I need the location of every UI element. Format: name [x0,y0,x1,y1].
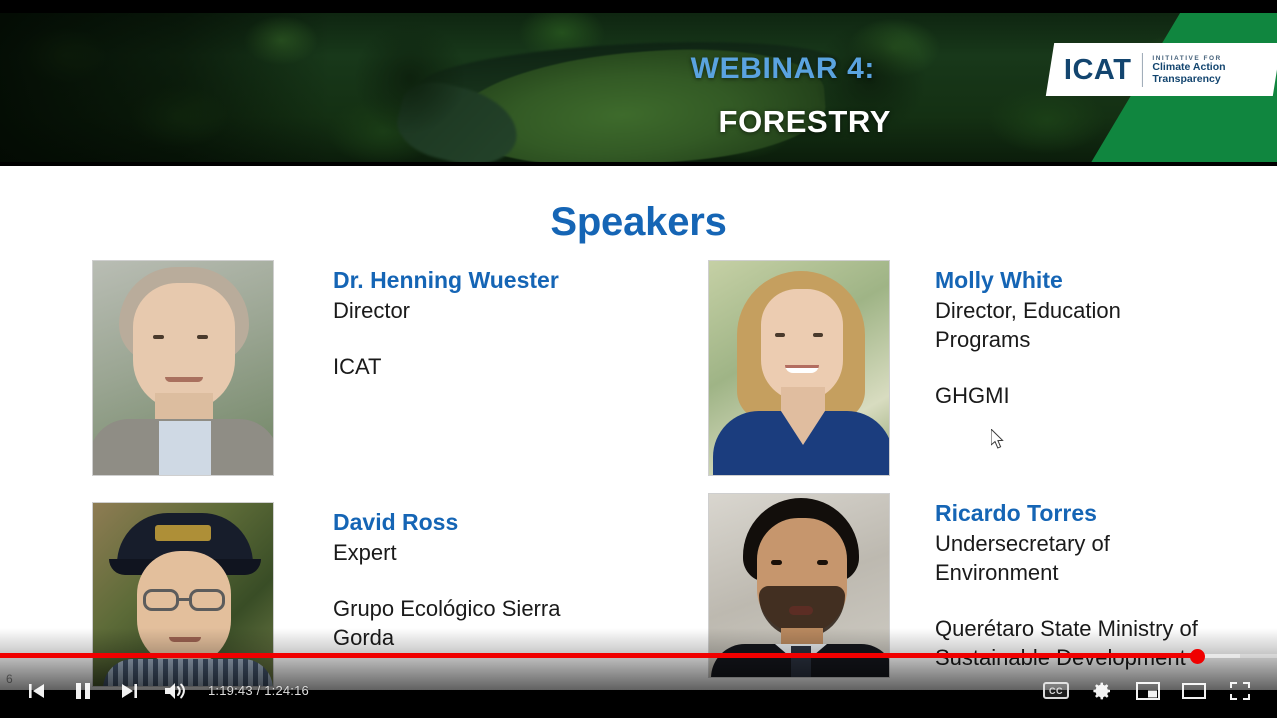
pause-button[interactable] [60,667,106,715]
player-controls: 1:19:43 / 1:24:16 CC [0,663,1277,718]
fullscreen-button[interactable] [1217,667,1263,715]
slide-body: Speakers Dr. Henning Wuester Director [0,166,1277,690]
speaker-card-henning-wuester: Dr. Henning Wuester Director ICAT [92,260,559,476]
speaker-organization: ICAT [333,352,559,381]
next-icon [118,681,140,701]
captions-icon: CC [1043,682,1069,699]
speaker-card-molly-white: Molly White Director, Education Programs… [708,260,1185,476]
settings-button[interactable] [1079,667,1125,715]
page-title: Speakers [0,200,1277,245]
miniplayer-icon [1135,680,1161,702]
banner-letterbox-bottom [0,162,1277,166]
speaker-organization: GHGMI [935,381,1185,410]
speaker-role: Undersecretary of Environment [935,529,1225,587]
progress-scrubber-handle[interactable] [1190,649,1205,664]
gear-icon [1090,679,1114,703]
theater-mode-button[interactable] [1171,667,1217,715]
logo-divider [1142,53,1143,87]
captions-button[interactable]: CC [1033,667,1079,715]
video-player[interactable]: WEBINAR 4: FORESTRY ICAT INITIATIVE FOR … [0,0,1277,718]
speaker-role: Expert [333,538,583,567]
progress-bar[interactable] [0,649,1277,663]
icat-tagline-line2: Climate Action [1153,61,1226,73]
webinar-number-label: WEBINAR 4: [0,52,1055,86]
speaker-name: Ricardo Torres [935,501,1225,527]
speaker-organization: Grupo Ecológico Sierra Gorda [333,594,583,652]
previous-button[interactable] [14,667,60,715]
speaker-name: Dr. Henning Wuester [333,268,559,294]
speaker-name: Molly White [935,268,1185,294]
icat-tagline-line3: Transparency [1153,73,1226,85]
volume-button[interactable] [152,667,198,715]
speaker-photo-molly-white [708,260,890,476]
presentation-slide: WEBINAR 4: FORESTRY ICAT INITIATIVE FOR … [0,0,1277,690]
slide-banner: WEBINAR 4: FORESTRY ICAT INITIATIVE FOR … [0,0,1277,166]
next-button[interactable] [106,667,152,715]
speaker-role: Director, Education Programs [935,296,1185,354]
pause-icon [73,680,93,702]
volume-icon [163,680,187,702]
speaker-role: Director [333,296,559,325]
banner-letterbox-top [0,0,1277,13]
fullscreen-icon [1228,680,1252,702]
progress-played [0,653,1198,658]
speaker-name: David Ross [333,510,583,536]
speaker-photo-henning-wuester [92,260,274,476]
previous-icon [26,681,48,701]
miniplayer-button[interactable] [1125,667,1171,715]
speakers-row-1: Dr. Henning Wuester Director ICAT Moll [0,254,1277,501]
icat-logo: ICAT INITIATIVE FOR Climate Action Trans… [1046,43,1277,96]
time-display: 1:19:43 / 1:24:16 [198,683,321,698]
theater-icon [1181,680,1207,702]
webinar-topic-label: FORESTRY [0,104,1055,140]
icat-logo-mark: ICAT [1064,55,1132,84]
speakers-grid: Dr. Henning Wuester Director ICAT Moll [0,254,1277,690]
